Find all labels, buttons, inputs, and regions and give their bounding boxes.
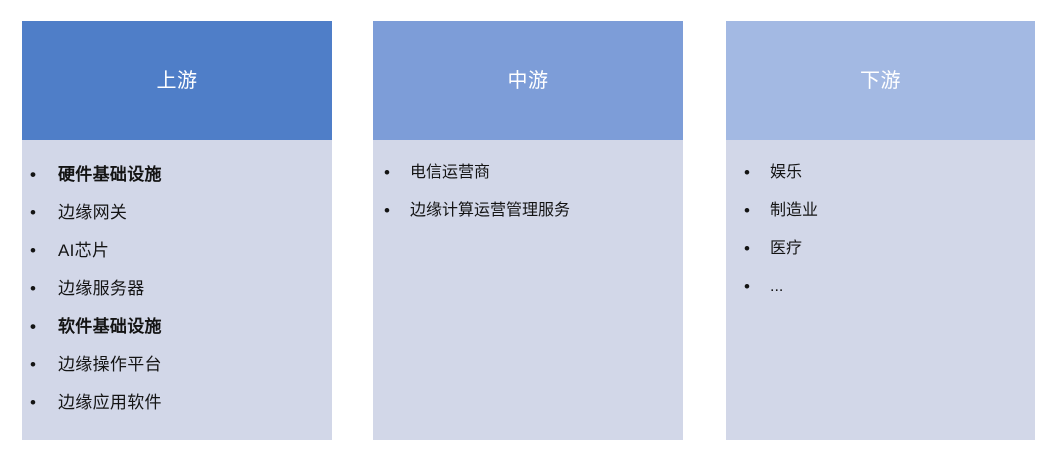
column-body-midstream: •电信运营商•边缘计算运营管理服务 [373,140,683,440]
list-item-label: 硬件基础设施 [58,156,162,194]
list-item-label: 软件基础设施 [58,308,162,346]
list-item-label: 边缘网关 [58,194,127,232]
bullet-icon: • [744,268,758,306]
list-item: •边缘服务器 [30,270,332,308]
list-item: •边缘应用软件 [30,384,332,422]
column-header-midstream: 中游 [373,21,683,140]
bullet-icon: • [30,270,44,308]
column-body-downstream: •娱乐•制造业•医疗•... [726,140,1035,440]
list-item: •软件基础设施 [30,308,332,346]
list-item-label: 边缘服务器 [58,270,145,308]
list-item-label: 边缘应用软件 [58,384,162,422]
list-item: •边缘操作平台 [30,346,332,384]
list-item: •硬件基础设施 [30,156,332,194]
list-item: •电信运营商 [384,154,683,192]
item-list-upstream: •硬件基础设施•边缘网关•AI芯片•边缘服务器•软件基础设施•边缘操作平台•边缘… [22,156,332,422]
industry-chain-diagram: 上游 •硬件基础设施•边缘网关•AI芯片•边缘服务器•软件基础设施•边缘操作平台… [0,0,1059,460]
list-item: •边缘计算运营管理服务 [384,192,683,230]
column-header-downstream: 下游 [726,21,1035,140]
item-list-downstream: •娱乐•制造业•医疗•... [726,154,1035,306]
column-downstream: 下游 •娱乐•制造业•医疗•... [726,21,1035,440]
list-item-label: 制造业 [770,192,818,230]
list-item: •制造业 [744,192,1035,230]
column-upstream: 上游 •硬件基础设施•边缘网关•AI芯片•边缘服务器•软件基础设施•边缘操作平台… [22,21,332,440]
item-list-midstream: •电信运营商•边缘计算运营管理服务 [373,154,683,230]
list-item-label: ... [770,268,783,306]
bullet-icon: • [744,230,758,268]
column-midstream: 中游 •电信运营商•边缘计算运营管理服务 [373,21,683,440]
list-item: •... [744,268,1035,306]
list-item-label: 边缘操作平台 [58,346,162,384]
column-header-upstream: 上游 [22,21,332,140]
bullet-icon: • [30,384,44,422]
bullet-icon: • [30,194,44,232]
bullet-icon: • [384,154,398,192]
list-item-label: AI芯片 [58,232,109,270]
bullet-icon: • [744,154,758,192]
list-item: •娱乐 [744,154,1035,192]
list-item: •边缘网关 [30,194,332,232]
list-item-label: 娱乐 [770,154,802,192]
bullet-icon: • [30,156,44,194]
column-title-upstream: 上游 [157,71,198,91]
column-body-upstream: •硬件基础设施•边缘网关•AI芯片•边缘服务器•软件基础设施•边缘操作平台•边缘… [22,140,332,440]
bullet-icon: • [30,346,44,384]
bullet-icon: • [384,192,398,230]
column-title-downstream: 下游 [860,71,901,91]
bullet-icon: • [30,308,44,346]
list-item: •AI芯片 [30,232,332,270]
list-item: •医疗 [744,230,1035,268]
bullet-icon: • [744,192,758,230]
bullet-icon: • [30,232,44,270]
list-item-label: 医疗 [770,230,802,268]
list-item-label: 边缘计算运营管理服务 [410,192,570,230]
column-title-midstream: 中游 [508,71,549,91]
list-item-label: 电信运营商 [410,154,490,192]
